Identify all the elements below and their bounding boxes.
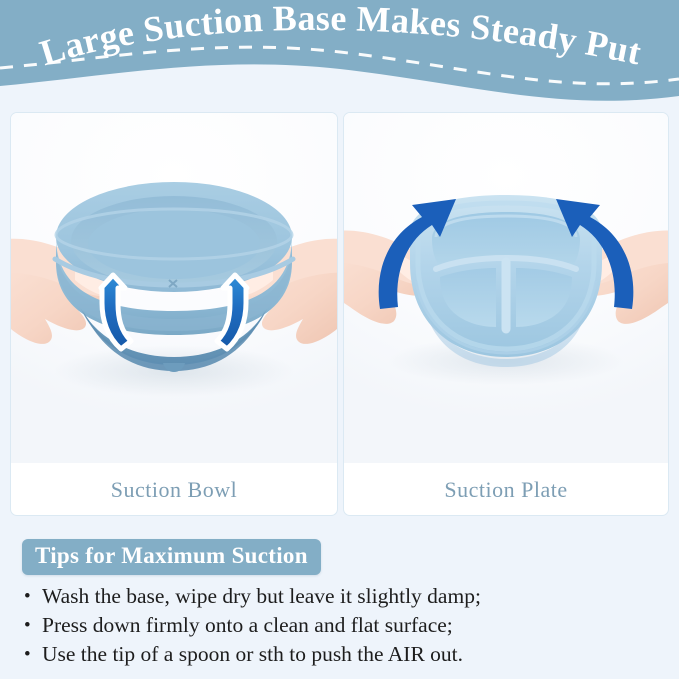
infographic-page: Large Suction Base Makes Steady Put [0,0,679,679]
panel-caption-suction-plate: Suction Plate [344,463,668,516]
panel-caption-suction-bowl: Suction Bowl [11,463,337,516]
suction-bowl-photo [11,113,337,463]
bullet-glyph: • [24,640,31,669]
suction-plate-illustration [344,113,668,463]
tips-list-item: • Use the tip of a spoon or sth to push … [22,640,662,669]
tips-list-item: • Wash the base, wipe dry but leave it s… [22,582,662,611]
panel-suction-plate[interactable]: Suction Plate [343,112,669,516]
header-banner: Large Suction Base Makes Steady Put [0,0,679,110]
header-wave-shape [0,0,679,112]
product-panels: Suction Bowl [0,110,679,520]
tips-item-text: Use the tip of a spoon or sth to push th… [42,642,463,666]
suction-bowl-illustration [11,113,337,463]
suction-plate-photo [344,113,668,463]
tips-item-text: Wash the base, wipe dry but leave it sli… [42,584,481,608]
tips-item-text: Press down firmly onto a clean and flat … [42,613,453,637]
bullet-glyph: • [24,611,31,640]
tips-section: Tips for Maximum Suction • Wash the base… [0,524,679,679]
tips-badge: Tips for Maximum Suction [22,539,321,575]
panel-suction-bowl[interactable]: Suction Bowl [10,112,338,516]
tips-list: • Wash the base, wipe dry but leave it s… [22,582,662,669]
tips-list-item: • Press down firmly onto a clean and fla… [22,611,662,640]
bullet-glyph: • [24,582,31,611]
